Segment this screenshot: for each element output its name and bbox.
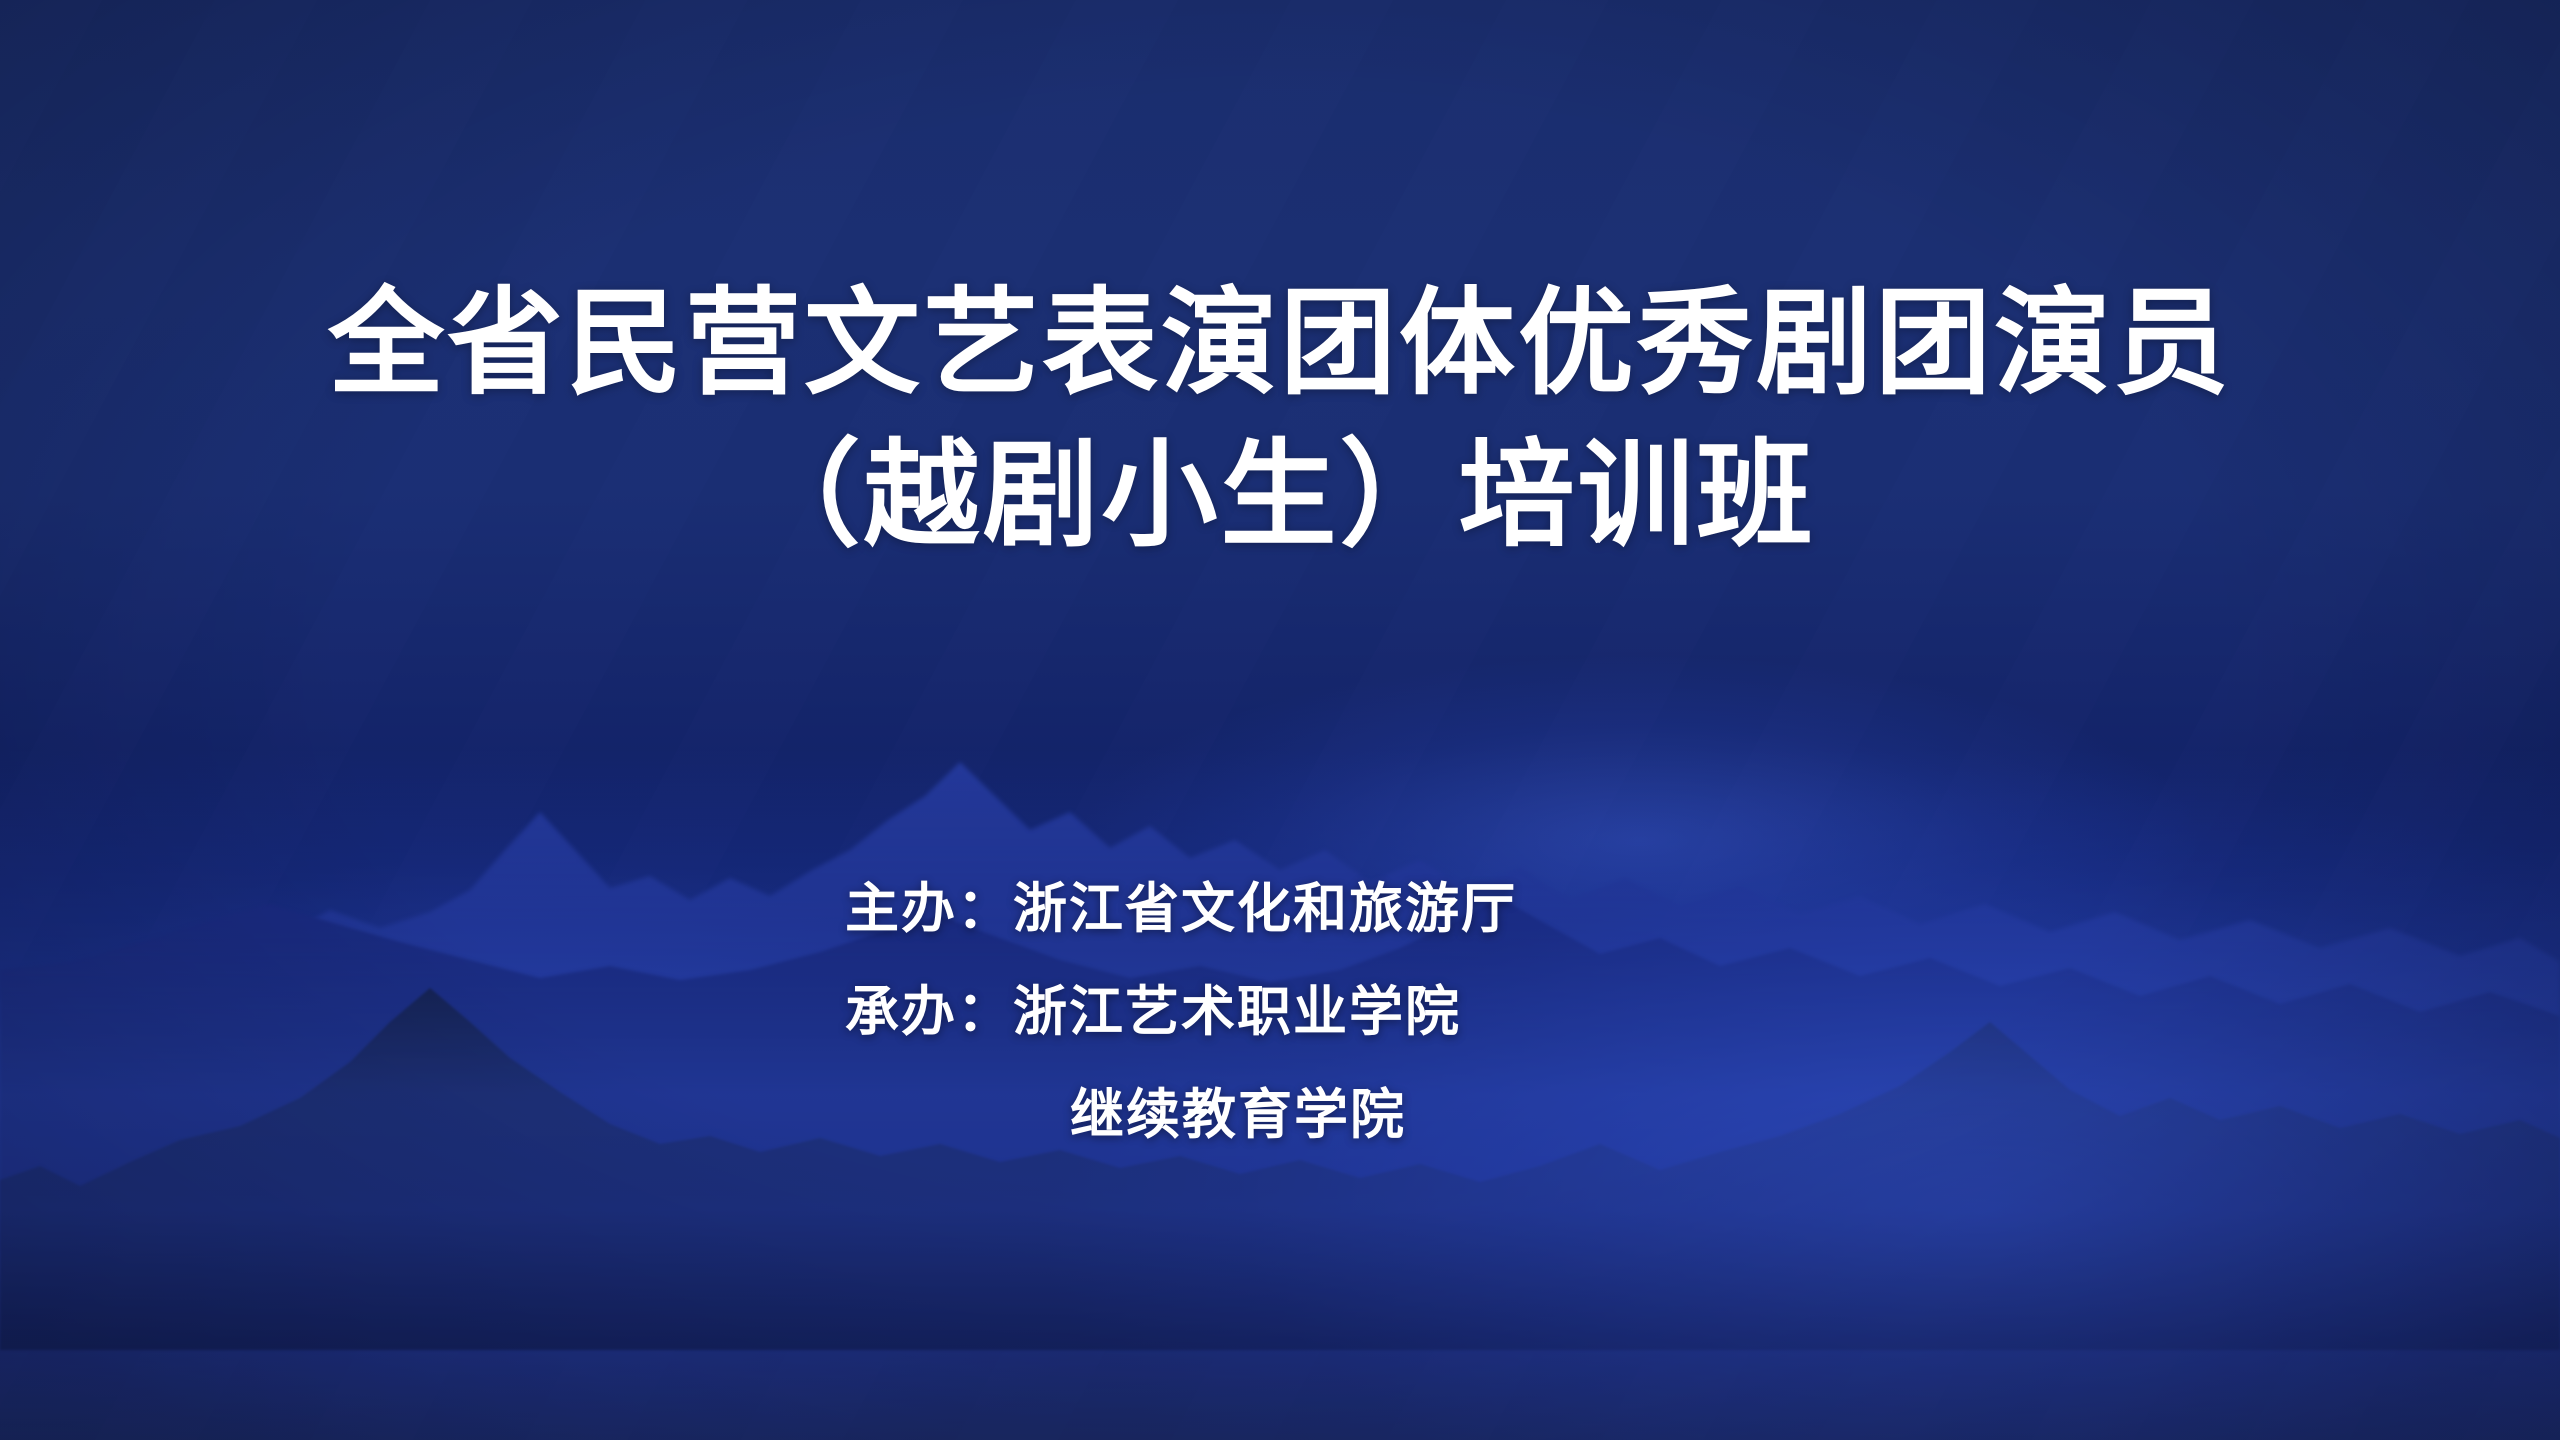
slide-title: 全省民营文艺表演团体优秀剧团演员 （越剧小生）培训班 bbox=[0, 268, 2560, 572]
slide-content: 全省民营文艺表演团体优秀剧团演员 （越剧小生）培训班 主办：浙江省文化和旅游厅 … bbox=[0, 0, 2560, 1440]
slide-subtitle: 主办：浙江省文化和旅游厅 承办：浙江艺术职业学院 继续教育学院 bbox=[845, 857, 1745, 1166]
organizer-line: 主办：浙江省文化和旅游厅 bbox=[845, 857, 1745, 960]
title-line-2: （越剧小生）培训班 bbox=[0, 420, 2560, 572]
title-line-1: 全省民营文艺表演团体优秀剧团演员 bbox=[0, 268, 2560, 420]
host-line: 承办：浙江艺术职业学院 bbox=[845, 960, 1745, 1063]
host-line-continuation: 继续教育学院 bbox=[845, 1063, 1745, 1166]
presentation-title-slide: 全省民营文艺表演团体优秀剧团演员 （越剧小生）培训班 主办：浙江省文化和旅游厅 … bbox=[0, 0, 2560, 1440]
